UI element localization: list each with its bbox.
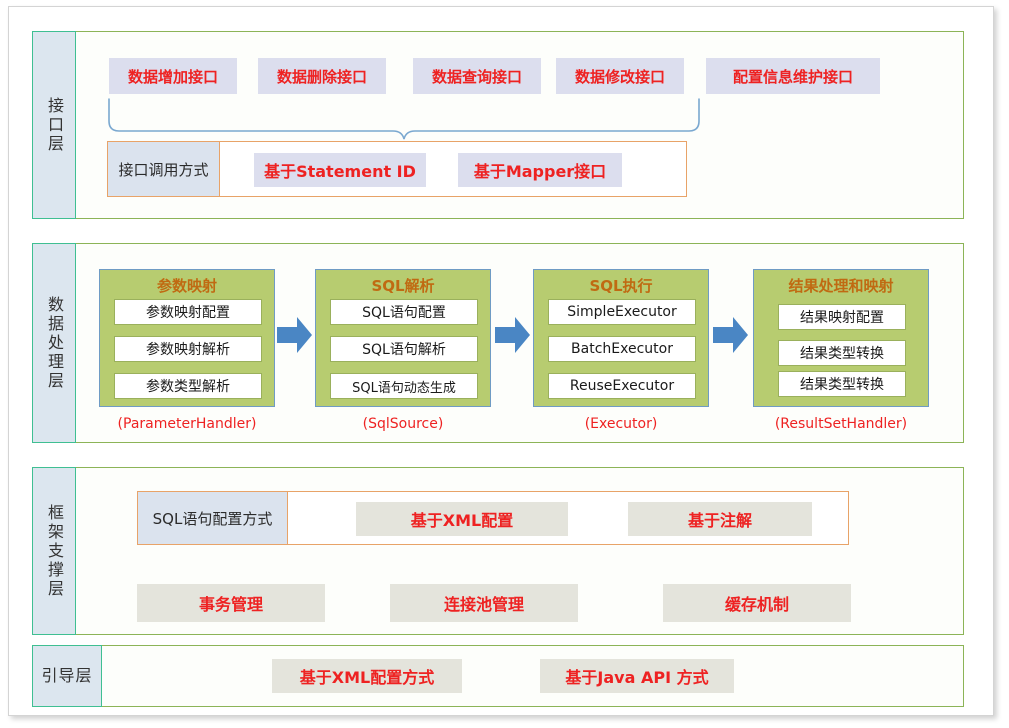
layer-label-data-processing-text: 数据处理层	[44, 296, 64, 391]
interface-pill-query-label: 数据查询接口	[432, 66, 522, 87]
interface-pill-config-maintain[interactable]: 配置信息维护接口	[706, 58, 880, 94]
group-sql-parsing-item-1[interactable]: SQL语句解析	[330, 336, 478, 362]
framework-sql-config-head: SQL语句配置方式	[138, 492, 288, 544]
layer-label-data-processing: 数据处理层	[32, 243, 76, 443]
group-sql-parsing: SQL解析 SQL语句配置 SQL语句解析 SQL语句动态生成	[315, 269, 491, 407]
group-result-handling-item-1[interactable]: 结果类型转换	[778, 340, 906, 366]
diagram-canvas: 接口层 数据增加接口 数据删除接口 数据查询接口 数据修改接口 配置信息维护接口…	[8, 6, 994, 716]
interface-invocation-option-statement-id[interactable]: 基于Statement ID	[254, 153, 426, 187]
interface-invocation-option-statement-id-label: 基于Statement ID	[264, 158, 416, 182]
group-sql-parsing-caption-text: (SqlSource)	[363, 416, 444, 432]
group-sql-parsing-item-2[interactable]: SQL语句动态生成	[330, 373, 478, 399]
layer-label-bootstrap: 引导层	[32, 645, 102, 707]
group-sql-execution-item-1[interactable]: BatchExecutor	[548, 336, 696, 362]
interface-invocation-option-mapper-label: 基于Mapper接口	[474, 158, 606, 182]
layer-label-framework-support-text: 框架支撑层	[44, 504, 64, 599]
group-sql-parsing-title: SQL解析	[316, 275, 490, 296]
arrow-right-icon-3	[713, 314, 749, 356]
framework-support-cache[interactable]: 缓存机制	[663, 584, 851, 622]
group-result-handling: 结果处理和映射 结果映射配置 结果类型转换 结果类型转换	[753, 269, 929, 407]
framework-support-cache-label: 缓存机制	[725, 591, 789, 615]
framework-sql-config-option-xml-label: 基于XML配置	[411, 507, 513, 531]
bootstrap-option-java-api[interactable]: 基于Java API 方式	[540, 659, 734, 693]
bootstrap-option-xml-label: 基于XML配置方式	[300, 664, 434, 688]
group-result-handling-item-2[interactable]: 结果类型转换	[778, 371, 906, 397]
group-parameter-mapping-item-2[interactable]: 参数类型解析	[114, 373, 262, 399]
group-sql-execution: SQL执行 SimpleExecutor BatchExecutor Reuse…	[533, 269, 709, 407]
group-parameter-mapping-caption-text: (ParameterHandler)	[118, 416, 257, 432]
interface-pill-delete-label: 数据删除接口	[277, 66, 367, 87]
group-parameter-mapping-item-2-label: 参数类型解析	[146, 376, 230, 396]
interface-pill-update-label: 数据修改接口	[575, 66, 665, 87]
group-sql-parsing-item-0[interactable]: SQL语句配置	[330, 299, 478, 325]
group-sql-parsing-item-0-label: SQL语句配置	[362, 302, 446, 322]
framework-sql-config-option-xml[interactable]: 基于XML配置	[356, 502, 568, 536]
interface-invocation-head: 接口调用方式	[108, 142, 220, 196]
group-sql-parsing-caption: (SqlSource)	[315, 416, 491, 432]
interface-invocation-row: 接口调用方式 基于Statement ID 基于Mapper接口	[107, 141, 687, 197]
group-sql-parsing-item-1-label: SQL语句解析	[362, 339, 446, 359]
framework-sql-config-option-annotation-label: 基于注解	[688, 507, 752, 531]
framework-support-connection-pool[interactable]: 连接池管理	[390, 584, 578, 622]
group-result-handling-caption: (ResultSetHandler)	[743, 416, 939, 432]
interface-pill-delete[interactable]: 数据删除接口	[258, 58, 386, 94]
layer-label-interface-text: 接口层	[44, 97, 64, 154]
group-result-handling-item-1-label: 结果类型转换	[800, 343, 884, 363]
interface-pill-query[interactable]: 数据查询接口	[413, 58, 541, 94]
group-sql-execution-title: SQL执行	[534, 275, 708, 296]
interface-pill-add-label: 数据增加接口	[128, 66, 218, 87]
group-result-handling-item-2-label: 结果类型转换	[800, 374, 884, 394]
group-parameter-mapping-item-1[interactable]: 参数映射解析	[114, 336, 262, 362]
group-sql-execution-caption: (Executor)	[533, 416, 709, 432]
group-sql-execution-item-2-label: ReuseExecutor	[570, 378, 674, 394]
group-parameter-mapping-caption: (ParameterHandler)	[99, 416, 275, 432]
arrow-right-icon-2	[495, 314, 531, 356]
group-sql-execution-item-0[interactable]: SimpleExecutor	[548, 299, 696, 325]
layer-label-bootstrap-text: 引导层	[41, 666, 92, 686]
interface-invocation-option-mapper[interactable]: 基于Mapper接口	[458, 153, 622, 187]
group-parameter-mapping: 参数映射 参数映射配置 参数映射解析 参数类型解析	[99, 269, 275, 407]
group-parameter-mapping-item-0-label: 参数映射配置	[146, 302, 230, 322]
group-sql-parsing-item-2-label: SQL语句动态生成	[352, 377, 456, 396]
group-sql-execution-item-2[interactable]: ReuseExecutor	[548, 373, 696, 399]
layer-label-framework-support: 框架支撑层	[32, 467, 76, 635]
framework-support-connection-pool-label: 连接池管理	[444, 591, 524, 615]
arrow-right-icon-1	[277, 314, 313, 356]
interface-pill-add[interactable]: 数据增加接口	[109, 58, 237, 94]
group-result-handling-title: 结果处理和映射	[754, 275, 928, 296]
group-result-handling-caption-text: (ResultSetHandler)	[775, 416, 907, 432]
interface-pill-update[interactable]: 数据修改接口	[556, 58, 684, 94]
group-sql-execution-item-1-label: BatchExecutor	[571, 341, 673, 357]
interface-invocation-head-label: 接口调用方式	[118, 159, 208, 180]
framework-support-transaction[interactable]: 事务管理	[137, 584, 325, 622]
framework-sql-config-row: SQL语句配置方式 基于XML配置 基于注解	[137, 491, 849, 545]
framework-sql-config-option-annotation[interactable]: 基于注解	[628, 502, 812, 536]
group-parameter-mapping-title: 参数映射	[100, 275, 274, 296]
group-parameter-mapping-item-1-label: 参数映射解析	[146, 339, 230, 359]
group-result-handling-item-0-label: 结果映射配置	[800, 307, 884, 327]
framework-support-transaction-label: 事务管理	[199, 591, 263, 615]
bootstrap-option-java-api-label: 基于Java API 方式	[565, 664, 708, 688]
framework-sql-config-head-label: SQL语句配置方式	[153, 508, 273, 529]
bootstrap-option-xml[interactable]: 基于XML配置方式	[272, 659, 462, 693]
group-sql-execution-item-0-label: SimpleExecutor	[567, 304, 677, 320]
group-result-handling-item-0[interactable]: 结果映射配置	[778, 304, 906, 330]
group-sql-execution-caption-text: (Executor)	[585, 416, 658, 432]
section-bootstrap-layer	[32, 645, 964, 707]
layer-label-interface: 接口层	[32, 31, 76, 219]
group-parameter-mapping-item-0[interactable]: 参数映射配置	[114, 299, 262, 325]
interface-pill-config-maintain-label: 配置信息维护接口	[733, 66, 853, 87]
